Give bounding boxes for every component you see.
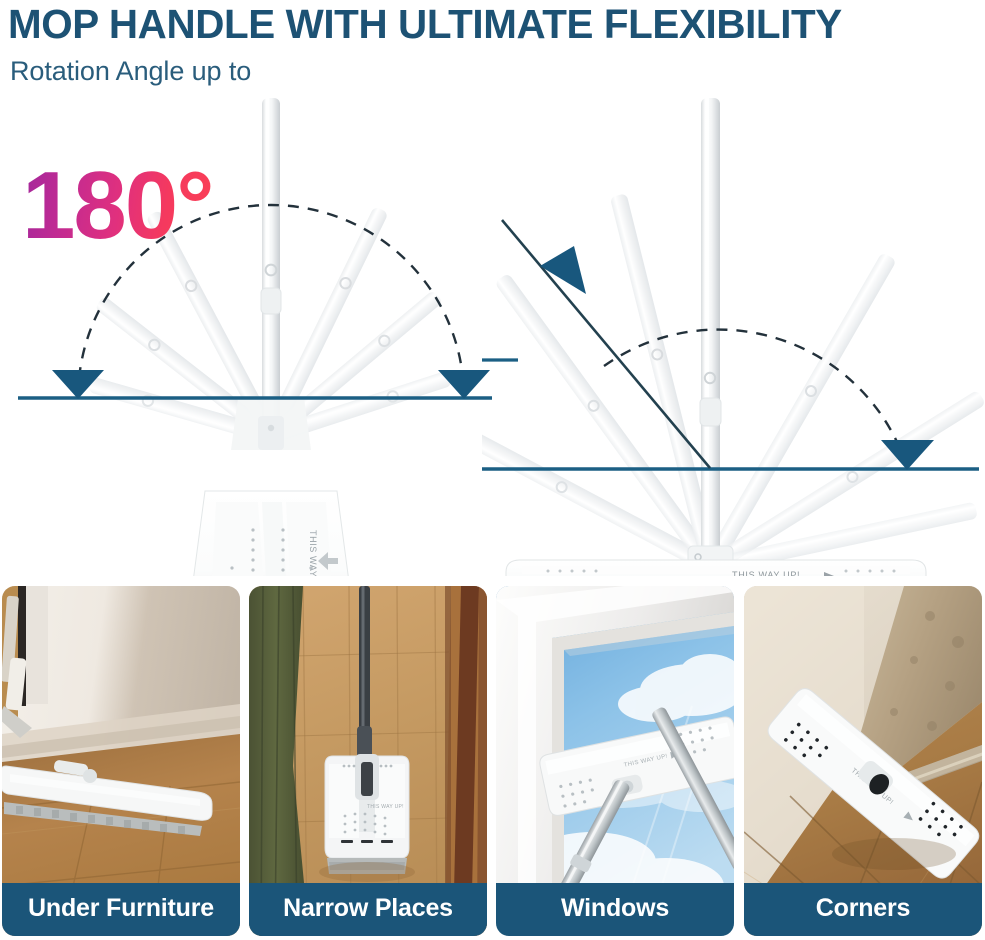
panel-under-furniture[interactable]: Under Furniture bbox=[2, 586, 240, 936]
page-subtitle: Rotation Angle up to bbox=[10, 55, 251, 87]
angle-overlay-150 bbox=[482, 98, 985, 576]
mop-head-p2: THIS WAY UP! bbox=[325, 754, 409, 874]
arrow-left-180 bbox=[52, 370, 104, 399]
angle-arc-150 bbox=[604, 330, 907, 467]
diagram-180: THIS WAY UP! bbox=[0, 98, 500, 576]
panel-caption: Under Furniture bbox=[2, 883, 240, 936]
angle-overlay-180 bbox=[0, 98, 500, 576]
diagram-150: THIS WAY UP! bbox=[482, 98, 985, 576]
angle-arc-180 bbox=[78, 205, 464, 398]
mop-head-label-p2: THIS WAY UP! bbox=[367, 804, 404, 810]
panel-windows[interactable]: THIS WAY UP! bbox=[496, 586, 734, 936]
panel-caption: Windows bbox=[496, 883, 734, 936]
infographic-page: MOP HANDLE WITH ULTIMATE FLEXIBILITY Rot… bbox=[0, 0, 985, 940]
use-case-panels: Under Furniture bbox=[0, 586, 985, 940]
header: MOP HANDLE WITH ULTIMATE FLEXIBILITY Rot… bbox=[0, 0, 985, 100]
angle-ray-150 bbox=[502, 220, 710, 468]
arrow-right-150 bbox=[881, 440, 934, 470]
panel-caption: Narrow Places bbox=[249, 883, 487, 936]
panel-narrow-places[interactable]: THIS WAY UP! Narrow Places bbox=[249, 586, 487, 936]
panel-caption: Corners bbox=[744, 883, 982, 936]
panel-corners[interactable]: THIS WAY UP! bbox=[744, 586, 982, 936]
arrow-upper-left-150 bbox=[540, 246, 586, 294]
mop-pole-p2 bbox=[357, 586, 372, 766]
rotation-diagrams: THIS WAY UP! bbox=[0, 98, 985, 576]
page-title: MOP HANDLE WITH ULTIMATE FLEXIBILITY bbox=[8, 2, 968, 46]
